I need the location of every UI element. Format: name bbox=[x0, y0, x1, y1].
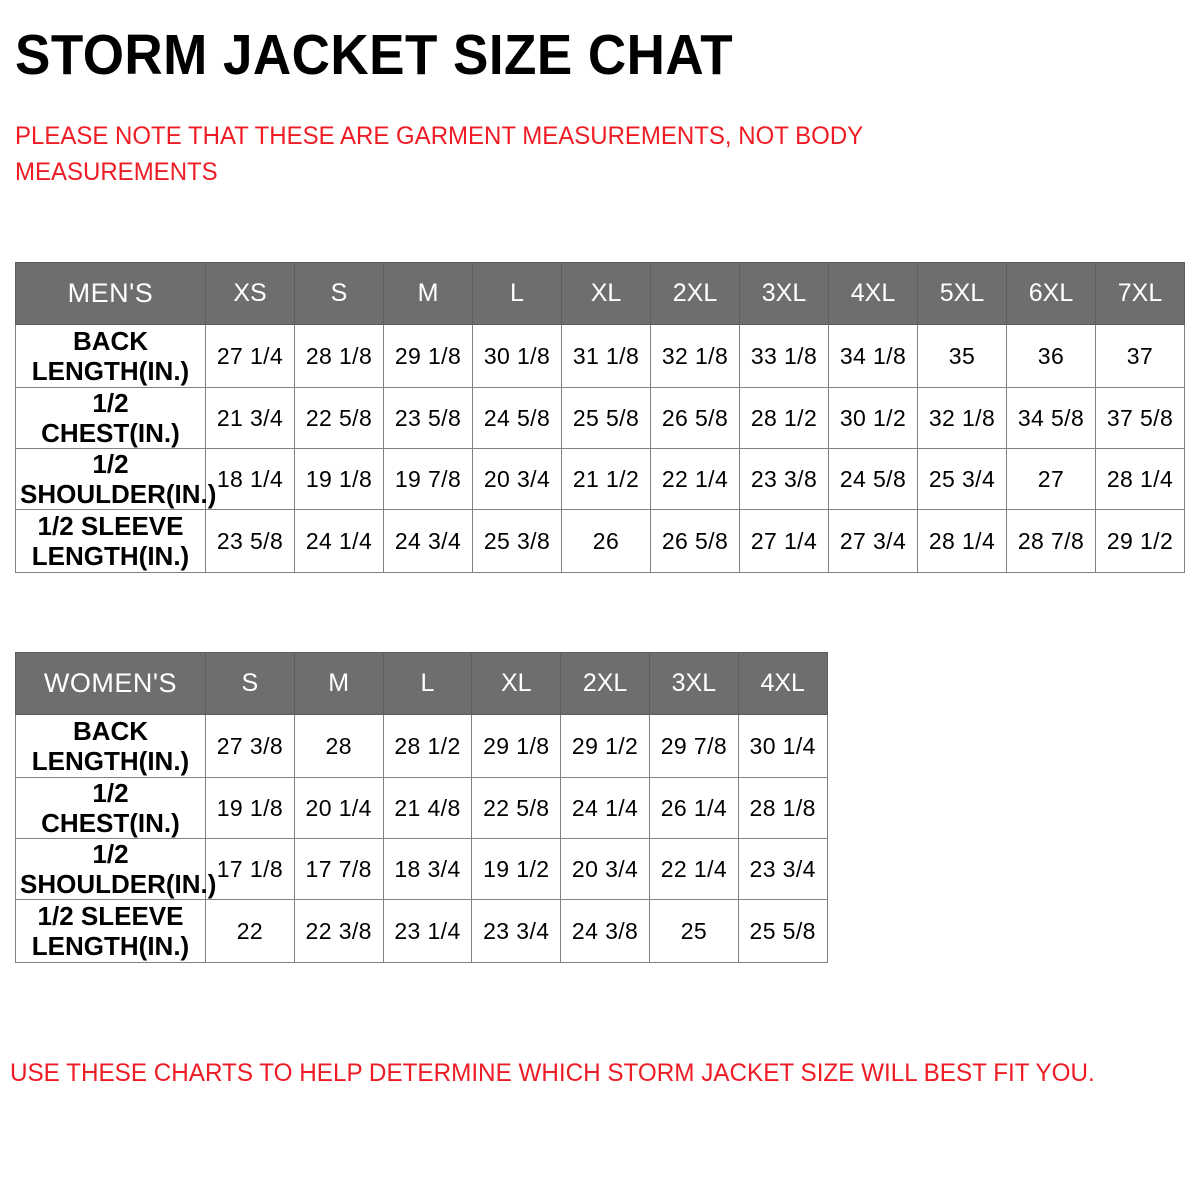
measurement-cell: 29 7/8 bbox=[649, 715, 738, 778]
measurement-cell: 27 bbox=[1007, 449, 1096, 510]
measurement-cell: 35 bbox=[918, 325, 1007, 388]
womens-size-table-container: WOMEN'S SMLXL2XL3XL4XL BACKLENGTH(IN.)27… bbox=[15, 652, 827, 963]
womens-size-header-2xl: 2XL bbox=[561, 653, 650, 715]
measurement-cell: 29 1/2 bbox=[1096, 510, 1185, 573]
measurement-cell: 27 3/4 bbox=[829, 510, 918, 573]
measurement-cell: 23 3/4 bbox=[738, 839, 827, 900]
measurement-cell: 21 4/8 bbox=[383, 778, 472, 839]
mens-size-header-6xl: 6XL bbox=[1007, 263, 1096, 325]
measurement-cell: 18 3/4 bbox=[383, 839, 472, 900]
measurement-cell: 24 5/8 bbox=[829, 449, 918, 510]
garment-measurement-note: PLEASE NOTE THAT THESE ARE GARMENT MEASU… bbox=[15, 118, 937, 190]
measurement-cell: 30 1/4 bbox=[738, 715, 827, 778]
measurement-cell: 26 bbox=[562, 510, 651, 573]
table-row: 1/2 SHOULDER(IN.)18 1/419 1/819 7/820 3/… bbox=[16, 449, 1185, 510]
mens-size-header-s: S bbox=[295, 263, 384, 325]
mens-table-header: MEN'S XSSMLXL2XL3XL4XL5XL6XL7XL bbox=[16, 263, 1185, 325]
measurement-cell: 28 1/2 bbox=[383, 715, 472, 778]
table-row: 1/2 CHEST(IN.)21 3/422 5/823 5/824 5/825… bbox=[16, 388, 1185, 449]
measurement-cell: 25 bbox=[649, 900, 738, 963]
mens-size-header-xs: XS bbox=[206, 263, 295, 325]
measurement-cell: 21 1/2 bbox=[562, 449, 651, 510]
measurement-cell: 24 3/4 bbox=[384, 510, 473, 573]
measurement-cell: 34 1/8 bbox=[829, 325, 918, 388]
mens-row-label: 1/2 CHEST(IN.) bbox=[16, 388, 206, 449]
measurement-cell: 17 7/8 bbox=[294, 839, 383, 900]
measurement-cell: 28 1/8 bbox=[295, 325, 384, 388]
measurement-cell: 25 3/4 bbox=[918, 449, 1007, 510]
mens-size-header-m: M bbox=[384, 263, 473, 325]
mens-size-header-4xl: 4XL bbox=[829, 263, 918, 325]
measurement-cell: 24 1/4 bbox=[561, 778, 650, 839]
measurement-cell: 22 bbox=[206, 900, 295, 963]
measurement-cell: 22 1/4 bbox=[649, 839, 738, 900]
measurement-cell: 23 1/4 bbox=[383, 900, 472, 963]
measurement-cell: 27 1/4 bbox=[206, 325, 295, 388]
measurement-cell: 28 7/8 bbox=[1007, 510, 1096, 573]
measurement-cell: 22 1/4 bbox=[651, 449, 740, 510]
measurement-cell: 19 7/8 bbox=[384, 449, 473, 510]
measurement-cell: 19 1/8 bbox=[295, 449, 384, 510]
measurement-cell: 24 3/8 bbox=[561, 900, 650, 963]
measurement-cell: 30 1/8 bbox=[473, 325, 562, 388]
measurement-cell: 22 5/8 bbox=[472, 778, 561, 839]
measurement-cell: 28 bbox=[294, 715, 383, 778]
table-row: 1/2 SLEEVELENGTH(IN.)23 5/824 1/424 3/42… bbox=[16, 510, 1185, 573]
mens-table-body: BACKLENGTH(IN.)27 1/428 1/829 1/830 1/83… bbox=[16, 325, 1185, 573]
mens-corner-label: MEN'S bbox=[16, 263, 206, 325]
measurement-cell: 20 1/4 bbox=[294, 778, 383, 839]
measurement-cell: 29 1/2 bbox=[561, 715, 650, 778]
measurement-cell: 22 5/8 bbox=[295, 388, 384, 449]
measurement-cell: 27 1/4 bbox=[740, 510, 829, 573]
womens-header-row: WOMEN'S SMLXL2XL3XL4XL bbox=[16, 653, 828, 715]
measurement-cell: 29 1/8 bbox=[472, 715, 561, 778]
measurement-cell: 32 1/8 bbox=[918, 388, 1007, 449]
measurement-cell: 25 5/8 bbox=[738, 900, 827, 963]
measurement-cell: 26 1/4 bbox=[649, 778, 738, 839]
womens-table-body: BACKLENGTH(IN.)27 3/82828 1/229 1/829 1/… bbox=[16, 715, 828, 963]
mens-size-header-xl: XL bbox=[562, 263, 651, 325]
womens-size-header-l: L bbox=[383, 653, 472, 715]
mens-row-label: BACKLENGTH(IN.) bbox=[16, 325, 206, 388]
footer-note: USE THESE CHARTS TO HELP DETERMINE WHICH… bbox=[10, 1058, 1096, 1088]
measurement-cell: 29 1/8 bbox=[384, 325, 473, 388]
mens-row-label: 1/2 SHOULDER(IN.) bbox=[16, 449, 206, 510]
womens-row-label: 1/2 SHOULDER(IN.) bbox=[16, 839, 206, 900]
mens-row-label: 1/2 SLEEVELENGTH(IN.) bbox=[16, 510, 206, 573]
measurement-cell: 23 5/8 bbox=[384, 388, 473, 449]
mens-size-header-l: L bbox=[473, 263, 562, 325]
measurement-cell: 26 5/8 bbox=[651, 510, 740, 573]
measurement-cell: 33 1/8 bbox=[740, 325, 829, 388]
womens-size-header-4xl: 4XL bbox=[738, 653, 827, 715]
womens-size-header-m: M bbox=[294, 653, 383, 715]
measurement-cell: 19 1/8 bbox=[206, 778, 295, 839]
table-row: 1/2 SLEEVELENGTH(IN.)2222 3/823 1/423 3/… bbox=[16, 900, 828, 963]
mens-size-header-5xl: 5XL bbox=[918, 263, 1007, 325]
measurement-cell: 37 5/8 bbox=[1096, 388, 1185, 449]
table-row: BACKLENGTH(IN.)27 1/428 1/829 1/830 1/83… bbox=[16, 325, 1185, 388]
womens-row-label: 1/2 CHEST(IN.) bbox=[16, 778, 206, 839]
measurement-cell: 18 1/4 bbox=[206, 449, 295, 510]
measurement-cell: 24 5/8 bbox=[473, 388, 562, 449]
measurement-cell: 34 5/8 bbox=[1007, 388, 1096, 449]
table-row: 1/2 CHEST(IN.)19 1/820 1/421 4/822 5/824… bbox=[16, 778, 828, 839]
measurement-cell: 23 3/4 bbox=[472, 900, 561, 963]
measurement-cell: 25 3/8 bbox=[473, 510, 562, 573]
measurement-cell: 36 bbox=[1007, 325, 1096, 388]
measurement-cell: 20 3/4 bbox=[561, 839, 650, 900]
mens-size-table: MEN'S XSSMLXL2XL3XL4XL5XL6XL7XL BACKLENG… bbox=[15, 262, 1185, 573]
mens-header-row: MEN'S XSSMLXL2XL3XL4XL5XL6XL7XL bbox=[16, 263, 1185, 325]
size-chart-page: STORM JACKET SIZE CHAT PLEASE NOTE THAT … bbox=[0, 0, 1200, 1200]
measurement-cell: 17 1/8 bbox=[206, 839, 295, 900]
measurement-cell: 30 1/2 bbox=[829, 388, 918, 449]
measurement-cell: 23 5/8 bbox=[206, 510, 295, 573]
measurement-cell: 25 5/8 bbox=[562, 388, 651, 449]
mens-size-table-container: MEN'S XSSMLXL2XL3XL4XL5XL6XL7XL BACKLENG… bbox=[15, 262, 1185, 573]
measurement-cell: 20 3/4 bbox=[473, 449, 562, 510]
mens-size-header-3xl: 3XL bbox=[740, 263, 829, 325]
table-row: BACKLENGTH(IN.)27 3/82828 1/229 1/829 1/… bbox=[16, 715, 828, 778]
womens-row-label: 1/2 SLEEVELENGTH(IN.) bbox=[16, 900, 206, 963]
womens-size-header-3xl: 3XL bbox=[649, 653, 738, 715]
mens-size-header-7xl: 7XL bbox=[1096, 263, 1185, 325]
measurement-cell: 26 5/8 bbox=[651, 388, 740, 449]
womens-size-header-s: S bbox=[206, 653, 295, 715]
measurement-cell: 37 bbox=[1096, 325, 1185, 388]
measurement-cell: 28 1/4 bbox=[1096, 449, 1185, 510]
womens-corner-label: WOMEN'S bbox=[16, 653, 206, 715]
measurement-cell: 28 1/4 bbox=[918, 510, 1007, 573]
measurement-cell: 27 3/8 bbox=[206, 715, 295, 778]
measurement-cell: 32 1/8 bbox=[651, 325, 740, 388]
womens-row-label: BACKLENGTH(IN.) bbox=[16, 715, 206, 778]
womens-size-header-xl: XL bbox=[472, 653, 561, 715]
measurement-cell: 22 3/8 bbox=[294, 900, 383, 963]
table-row: 1/2 SHOULDER(IN.)17 1/817 7/818 3/419 1/… bbox=[16, 839, 828, 900]
page-title: STORM JACKET SIZE CHAT bbox=[15, 22, 733, 88]
measurement-cell: 21 3/4 bbox=[206, 388, 295, 449]
measurement-cell: 24 1/4 bbox=[295, 510, 384, 573]
measurement-cell: 23 3/8 bbox=[740, 449, 829, 510]
measurement-cell: 31 1/8 bbox=[562, 325, 651, 388]
womens-table-header: WOMEN'S SMLXL2XL3XL4XL bbox=[16, 653, 828, 715]
mens-size-header-2xl: 2XL bbox=[651, 263, 740, 325]
measurement-cell: 28 1/8 bbox=[738, 778, 827, 839]
womens-size-table: WOMEN'S SMLXL2XL3XL4XL BACKLENGTH(IN.)27… bbox=[15, 652, 828, 963]
measurement-cell: 28 1/2 bbox=[740, 388, 829, 449]
measurement-cell: 19 1/2 bbox=[472, 839, 561, 900]
